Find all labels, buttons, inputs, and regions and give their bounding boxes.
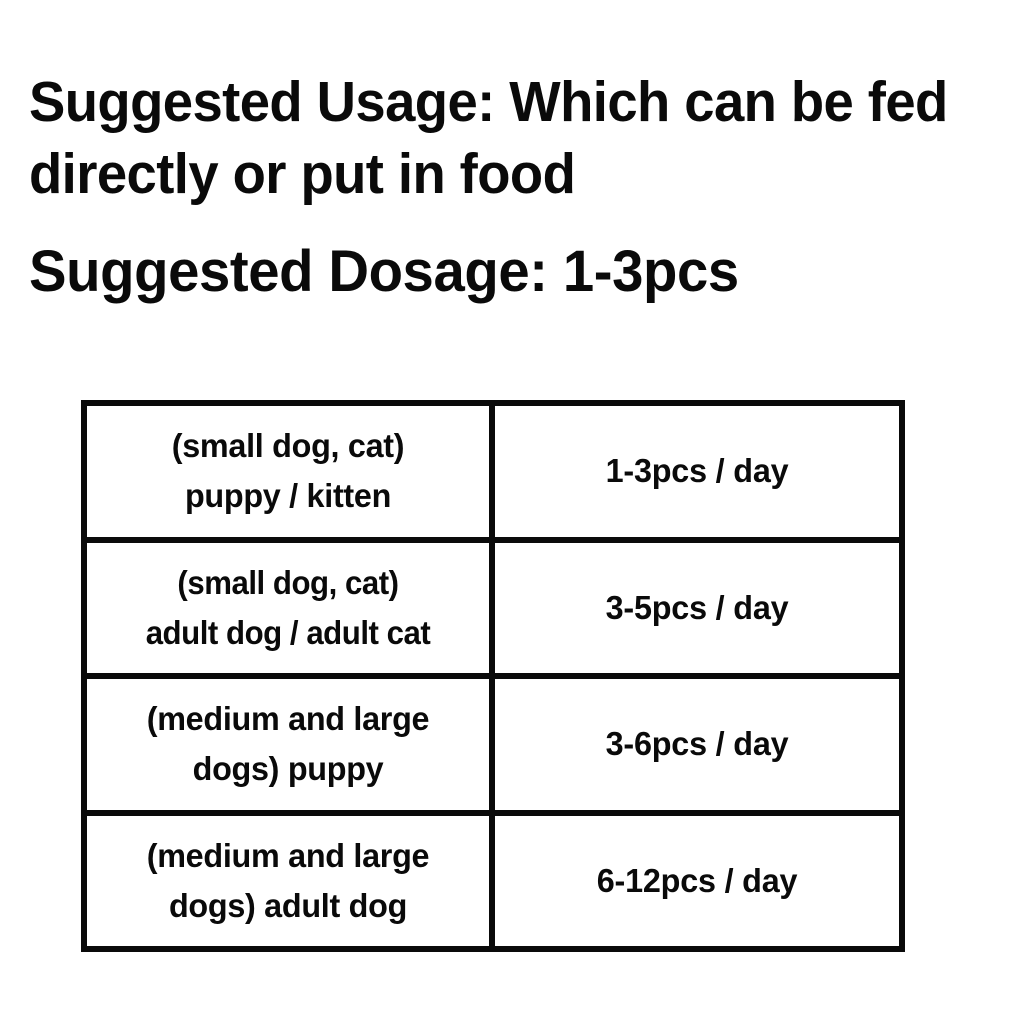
table-cell-dosage: 3-5pcs / day bbox=[492, 540, 902, 677]
table-cell-animal-type: (small dog, cat) adult dog / adult cat bbox=[84, 540, 492, 677]
suggested-dosage-heading-line-1: Suggested Dosage: 1-3pcs bbox=[29, 235, 960, 309]
dosage-table-body: (small dog, cat) puppy / kitten 1-3pcs /… bbox=[84, 403, 902, 949]
animal-type-line-1: (small dog, cat) bbox=[95, 421, 481, 471]
animal-type-line-1: (small dog, cat) bbox=[102, 558, 474, 608]
suggested-dosage-heading: Suggested Dosage: 1-3pcs bbox=[29, 235, 989, 309]
table-row: (small dog, cat) adult dog / adult cat 3… bbox=[84, 540, 902, 677]
table-cell-dosage: 6-12pcs / day bbox=[492, 813, 902, 950]
animal-type-line-2: dogs) puppy bbox=[95, 744, 481, 794]
table-cell-animal-type: (medium and large dogs) puppy bbox=[84, 676, 492, 813]
animal-type-line-1: (medium and large bbox=[95, 694, 481, 744]
table-cell-dosage: 3-6pcs / day bbox=[492, 676, 902, 813]
dosage-value: 3-5pcs / day bbox=[503, 586, 891, 630]
animal-type-line-2: dogs) adult dog bbox=[95, 881, 481, 931]
table-row: (small dog, cat) puppy / kitten 1-3pcs /… bbox=[84, 403, 902, 540]
suggested-usage-heading-line-2: directly or put in food bbox=[29, 138, 946, 210]
table-row: (medium and large dogs) puppy 3-6pcs / d… bbox=[84, 676, 902, 813]
animal-type-line-2: puppy / kitten bbox=[95, 471, 481, 521]
animal-type-line-1: (medium and large bbox=[95, 831, 481, 881]
table-cell-animal-type: (small dog, cat) puppy / kitten bbox=[84, 403, 492, 540]
dosage-value: 1-3pcs / day bbox=[503, 449, 891, 493]
table-row: (medium and large dogs) adult dog 6-12pc… bbox=[84, 813, 902, 950]
animal-type-line-2: adult dog / adult cat bbox=[102, 608, 474, 658]
table-cell-animal-type: (medium and large dogs) adult dog bbox=[84, 813, 492, 950]
product-usage-infographic: Suggested Usage: Which can be fed direct… bbox=[0, 0, 1024, 1024]
dosage-value: 6-12pcs / day bbox=[503, 859, 891, 903]
suggested-usage-heading: Suggested Usage: Which can be fed direct… bbox=[29, 66, 989, 210]
table-cell-dosage: 1-3pcs / day bbox=[492, 403, 902, 540]
suggested-usage-heading-line-1: Suggested Usage: Which can be fed bbox=[29, 66, 946, 138]
dosage-table: (small dog, cat) puppy / kitten 1-3pcs /… bbox=[81, 400, 905, 952]
dosage-value: 3-6pcs / day bbox=[503, 722, 891, 766]
